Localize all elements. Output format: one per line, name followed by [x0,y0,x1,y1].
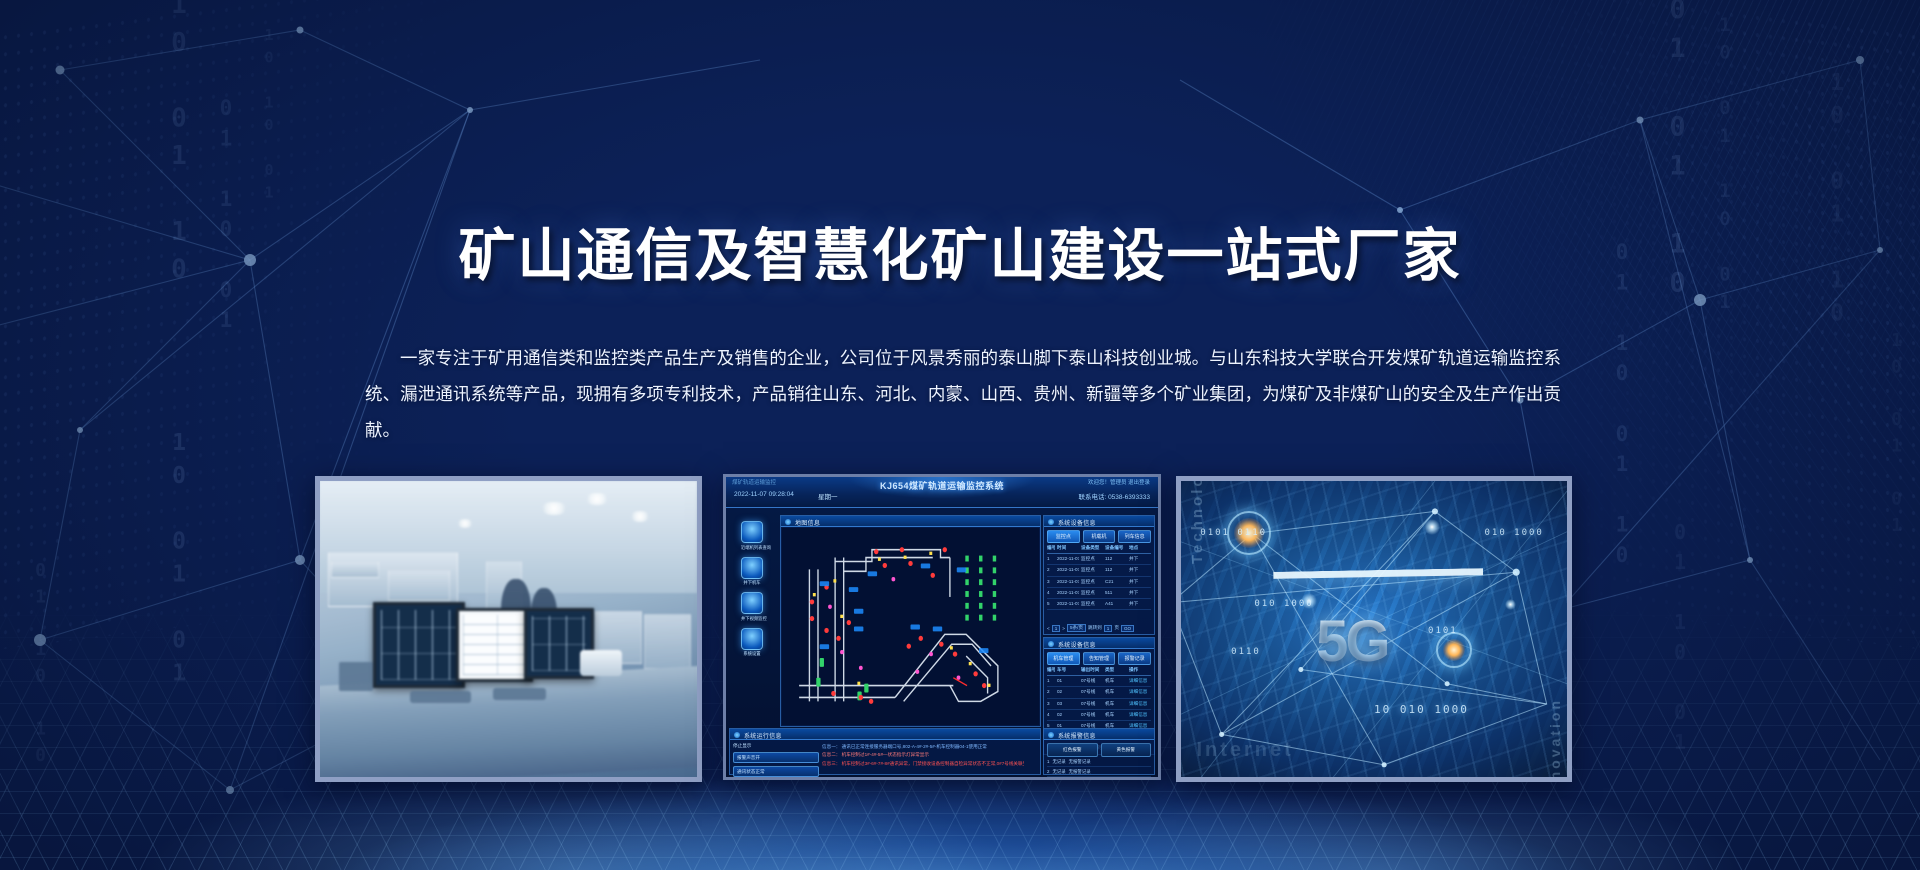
scada-alarm-sound-button[interactable]: 报警声音开 [733,752,819,763]
scada-tel-value: 0538-6393333 [1108,494,1150,501]
col-header: 车号 [1057,667,1079,673]
cell: 511 [1105,590,1127,596]
scada-device-table: 编号 时间 设备类型 设备编号 地点 1 2022-11-07 09:23:29… [1047,543,1151,618]
table-row[interactable]: 1 01 07号线 机车 详细信息 [1047,676,1151,687]
cell: 井下 [1129,590,1151,596]
scada-datetime: 2022-11-07 09:28:04 [734,491,794,498]
cell: 03 [1057,701,1079,707]
binary-tag-2: 010 1000 [1484,528,1543,538]
scada-side-icon-label: 系统设置 [741,651,763,657]
tab-notice-mgmt[interactable]: 告知管理 [1083,652,1116,665]
table-row[interactable]: 4 2022-11-07 09:23:29 监控点 511 井下 [1047,588,1151,599]
light-spark-3 [1505,599,1516,610]
wordmark-innovation: Innovation [1547,698,1563,777]
cell: 监控点 [1081,556,1103,562]
mine-monitoring-screenshot: 煤矿轨道运输监控 KJ654煤矿轨道运输监控系统 2022-11-07 09:2… [726,477,1158,777]
table-row[interactable]: 3 03 07号线 机车 详细信息 [1047,699,1151,710]
scada-side-icon-rail: 近端机列表查询 井下机车 井下视频监控 系统设置 [728,521,776,725]
hero-banner: 10 01 10 01 10 01 10 01 01 01 10 10 10 1… [0,0,1920,870]
scada-user-info[interactable]: 欢迎您！管理员 退出登录 [1088,478,1150,486]
tab-monitor-point[interactable]: 监控点 [1047,530,1080,543]
control-room-photo-card[interactable] [315,476,702,782]
table-row[interactable]: 5 2022-11-07 09:23:29 监控点 A41 井下 [1047,599,1151,610]
fiveg-label: 5G [1316,608,1387,675]
alarm-red-button[interactable]: 红色报警 [1047,743,1098,757]
pager-go-button[interactable]: GO [1121,625,1134,632]
cell: 机车 [1105,678,1127,684]
scada-log-panel[interactable]: 系统运行信息 停止显示 报警声音开 通讯状态正常 信息一： 通讯已正常连接服务器… [729,728,1041,775]
image-gallery: 煤矿轨道运输监控 KJ654煤矿轨道运输监控系统 2022-11-07 09:2… [0,476,1920,776]
scada-alarm-panel-title: 系统报警信息 [1044,729,1154,740]
wordmark-technology: Technology [1189,481,1206,564]
table-row[interactable]: 2 02 07号线 机车 详细信息 [1047,687,1151,698]
alarm-yellow-button[interactable]: 黄色报警 [1101,743,1152,757]
scada-side-icon-signal[interactable]: 系统设置 [741,628,763,658]
scada-alarm-list: 1 无记录 无报警记录 2 无记录 无报警记录 [1047,757,1151,772]
cell: 4 [1047,590,1055,596]
cell: 1 [1047,759,1049,765]
cell-link[interactable]: 详细信息 [1129,712,1151,718]
list-item: 2 无记录 无报警记录 [1047,767,1151,777]
table-row[interactable]: 3 2022-11-07 09:23:29 监控点 C21 井下 [1047,577,1151,588]
cell: 监控点 [1081,567,1103,573]
scada-weekday: 星期一 [818,491,838,501]
scada-side-icon-train[interactable]: 井下机车 [741,557,763,587]
control-room-photo [320,481,697,777]
binary-tag-6: 10 010 1000 [1374,703,1469,716]
binary-tag-1: 0101 0110 [1200,528,1267,538]
scada-tel-label: 联系电话: [1078,494,1106,501]
table-header-row: 编号 时间 设备类型 设备编号 地点 [1047,543,1151,554]
scada-side-icon-label: 井下视频监控 [741,616,763,622]
scada-log-stop-label[interactable]: 停止显示 [733,743,819,749]
cell: 无记录 [1052,769,1065,775]
cell: A41 [1105,601,1127,607]
train-icon [741,557,763,579]
scada-log-panel-title: 系统运行信息 [730,729,1040,740]
pager-per-page[interactable]: 5条/页 [1067,624,1086,632]
binary-tag-4: 0110 [1231,647,1261,657]
cell: 112 [1105,567,1127,573]
cell: 2022-11-07 09:23:29 [1057,590,1079,596]
col-header: 设备类型 [1081,545,1103,551]
cell-link[interactable]: 详细信息 [1129,701,1151,707]
monitor-icon [741,592,763,614]
tab-onboard[interactable]: 机载机 [1083,530,1116,543]
scada-pager: < 1 > 5条/页 跳转到 1 页 GO [1047,624,1151,632]
cell: 井下 [1129,556,1151,562]
cell: 无报警记录 [1069,759,1091,765]
tab-train-info[interactable]: 列车信息 [1118,530,1151,543]
scada-log-lines: 信息一： 通讯已正常连接服务器端口号,802-A-4#-2#-5#-机车控制器0… [822,743,1024,772]
cell: 2022-11-07 09:23:29 [1057,556,1079,562]
pager-unit: 页 [1114,625,1119,631]
table-row[interactable]: 2 2022-11-07 09:23:29 监控点 112 井下 [1047,565,1151,576]
cell: 无报警记录 [1069,769,1091,775]
light-spark-1 [1424,519,1440,535]
cell: 井下 [1129,601,1151,607]
scada-side-icon-monitor[interactable]: 井下视频监控 [741,592,763,622]
tab-loco-mgmt[interactable]: 机车管理 [1047,652,1080,665]
cell: C21 [1105,579,1127,585]
mine-track-diagram[interactable] [782,528,1039,725]
scada-log-controls: 停止显示 报警声音开 通讯状态正常 [733,743,819,772]
cell: 机车 [1105,701,1127,707]
cell: 07号线 [1081,701,1103,707]
cell: 5 [1047,601,1055,607]
scada-device-tabs-2: 机车管理 告知管理 报警记录 [1047,652,1151,665]
col-header: 类型 [1105,667,1127,673]
scada-map-panel[interactable]: 地图信息 [780,515,1041,727]
log-line: 信息一： 通讯已正常连接服务器端口号,802-A-4#-2#-5#-机车控制器0… [822,743,1024,751]
cell: 2 [1047,769,1049,775]
log-line: 信息三： 机车控制过3#-6#-7#-8#通讯异常，门禁接收设备控制器自检异常状… [822,760,1024,768]
table-header-row: 编号 车号 输出时间 类型 操作 [1047,665,1151,676]
cell: 机车 [1105,712,1127,718]
page-title: 矿山通信及智慧化矿山建设一站式厂家 [0,210,1920,292]
cell: 07号线 [1081,689,1103,695]
cell: 02 [1057,712,1079,718]
col-header: 编号 [1047,667,1055,673]
col-header: 地点 [1129,545,1151,551]
wordmark-internet: Internet [1196,739,1293,762]
cell: 1 [1047,678,1055,684]
col-header: 时间 [1057,545,1079,551]
scada-comm-status-button[interactable]: 通讯状态正常 [733,766,819,777]
tab-alarm-records[interactable]: 报警记录 [1118,652,1151,665]
scada-side-icon-camera[interactable]: 近端机列表查询 [741,521,763,551]
camera-icon [741,521,763,543]
cell: 监控点 [1081,601,1103,607]
pager-jump-label: 跳转到 [1088,625,1102,631]
scada-alarm-buttons: 红色报警 黄色报警 [1047,743,1151,757]
cell-link[interactable]: 详细信息 [1129,689,1151,695]
mine-monitoring-screenshot-card[interactable]: 煤矿轨道运输监控 KJ654煤矿轨道运输监控系统 2022-11-07 09:2… [723,474,1161,780]
scada-map-panel-title: 地图信息 [781,516,1040,527]
cell: 井下 [1129,567,1151,573]
cell: 监控点 [1081,579,1103,585]
col-header: 编号 [1047,545,1055,551]
cell: 4 [1047,712,1055,718]
cell: 01 [1057,678,1079,684]
scada-side-icon-label: 井下机车 [741,580,763,586]
col-header: 操作 [1129,667,1151,673]
cell: 2022-11-07 09:23:29 [1057,601,1079,607]
cell: 112 [1105,556,1127,562]
scada-device-tabs: 监控点 机载机 列车信息 [1047,530,1151,543]
cell: 井下 [1129,579,1151,585]
scada-side-icon-label: 近端机列表查询 [741,545,763,551]
col-header: 输出时间 [1081,667,1103,673]
scada-contact-phone: 联系电话: 0538-6393333 [1078,491,1150,501]
cell: 02 [1057,689,1079,695]
cell: 无记录 [1052,759,1065,765]
cell: 3 [1047,701,1055,707]
pager-current-page[interactable]: 1 [1052,625,1061,632]
cell: 监控点 [1081,590,1103,596]
log-line: 信息二： 机车控制过1#-4#-5#—状态指示灯异常显示 [822,751,1024,759]
scada-device-panel[interactable]: 系统设备信息 监控点 机载机 列车信息 编号 时间 设备类型 设备编号 地点 [1043,515,1155,635]
fiveg-graphic-card[interactable]: Technology Innovation Internet 0101 0110… [1176,476,1572,782]
cell: 2 [1047,567,1055,573]
pager-prev-icon[interactable]: < [1047,626,1050,631]
cell: 07号线 [1081,712,1103,718]
cell-link[interactable]: 详细信息 [1129,678,1151,684]
scada-alarm-panel[interactable]: 系统报警信息 红色报警 黄色报警 1 无记录 无报警记录 2 无记录 [1043,728,1155,775]
col-header: 设备编号 [1105,545,1127,551]
scada-device-panel-2-title: 系统设备信息 [1044,638,1154,649]
table-row[interactable]: 1 2022-11-07 09:23:29 监控点 112 井下 [1047,554,1151,565]
signal-icon [741,628,763,650]
cell: 1 [1047,556,1055,562]
table-row[interactable]: 4 02 07号线 机车 详细信息 [1047,710,1151,721]
cell: 07号线 [1081,678,1103,684]
cell: 2022-11-07 09:23:29 [1057,579,1079,585]
cell: 2022-11-07 09:23:29 [1057,567,1079,573]
company-description: 一家专注于矿用通信类和监控类产品生产及销售的企业，公司位于风景秀丽的泰山脚下泰山… [365,340,1561,449]
list-item: 1 无记录 无报警记录 [1047,757,1151,767]
pager-jump-input[interactable]: 1 [1104,625,1113,632]
cell: 机车 [1105,689,1127,695]
scada-device-panel-title: 系统设备信息 [1044,516,1154,527]
fiveg-technology-graphic: Technology Innovation Internet 0101 0110… [1181,481,1567,777]
pager-next-icon[interactable]: > [1062,626,1065,631]
cell: 3 [1047,579,1055,585]
cell: 2 [1047,689,1055,695]
